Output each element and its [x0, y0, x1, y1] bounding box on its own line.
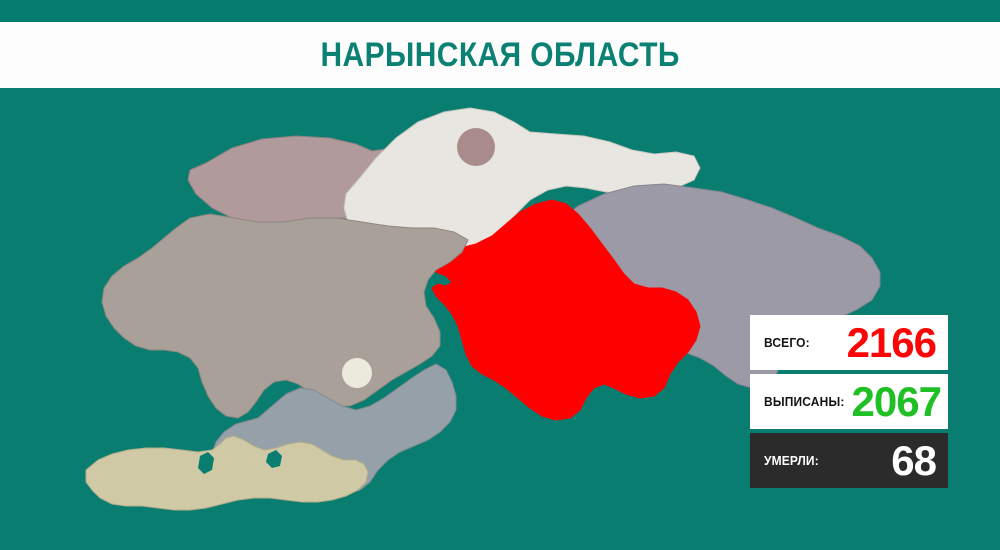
stat-row-total: ВСЕГО: 2166	[750, 315, 948, 370]
stat-label-discharged: ВЫПИСАНЫ:	[764, 394, 845, 409]
stats-panel: ВСЕГО: 2166 ВЫПИСАНЫ: 2067 УМЕРЛИ: 68	[750, 315, 948, 488]
title-band: НАРЫНСКАЯ ОБЛАСТЬ	[0, 22, 1000, 88]
stat-value-discharged: 2067	[852, 381, 941, 423]
stat-label-total: ВСЕГО:	[764, 335, 810, 350]
infographic-root: НАРЫНСКАЯ ОБЛАСТЬ	[0, 0, 1000, 550]
stat-row-deaths: УМЕРЛИ: 68	[750, 433, 948, 488]
stat-label-deaths: УМЕРЛИ:	[764, 453, 819, 468]
stat-row-discharged: ВЫПИСАНЫ: 2067	[750, 374, 948, 429]
top-accent-bar	[0, 0, 1000, 22]
city-marker-bishkek[interactable]	[457, 128, 495, 166]
stat-value-deaths: 68	[891, 440, 936, 482]
stat-value-total: 2166	[847, 322, 936, 364]
page-title: НАРЫНСКАЯ ОБЛАСТЬ	[320, 36, 679, 75]
city-marker-osh[interactable]	[342, 358, 372, 388]
